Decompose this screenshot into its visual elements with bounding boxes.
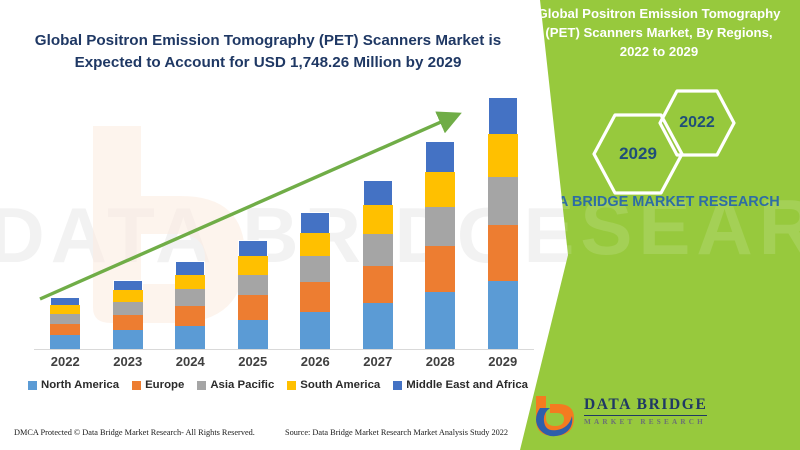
legend-swatch-icon [197, 381, 206, 390]
bar-segment-asia-pacific [113, 302, 143, 315]
legend-item-middle-east-and-africa[interactable]: Middle East and Africa [393, 379, 528, 391]
bar-segment-europe [238, 295, 268, 319]
legend-label: Middle East and Africa [406, 379, 528, 391]
bar-segment-north-america [50, 335, 80, 349]
bar-segment-north-america [175, 326, 205, 349]
bar-segment-middle-east-and-africa [300, 212, 330, 233]
bar-segment-middle-east-and-africa [50, 297, 80, 305]
bar-segment-north-america [363, 303, 393, 349]
legend-item-europe[interactable]: Europe [132, 379, 184, 391]
bar-segment-north-america [113, 330, 143, 349]
x-axis-labels: 20222023202420252026202720282029 [34, 354, 534, 376]
hexagon-2029-label: 2029 [592, 112, 684, 196]
data-bridge-logo-text: DATA BRIDGE MARKET RESEARCH [584, 396, 707, 426]
bar-2027 [363, 180, 393, 349]
bar-segment-europe [363, 266, 393, 303]
bar-segment-south-america [300, 233, 330, 256]
logo-subtitle: MARKET RESEARCH [584, 418, 707, 426]
x-axis-label-2025: 2025 [223, 354, 283, 369]
page-title: Global Positron Emission Tomography (PET… [18, 30, 518, 74]
chart-legend: North AmericaEuropeAsia PacificSouth Ame… [0, 379, 556, 391]
bar-segment-middle-east-and-africa [363, 180, 393, 205]
data-bridge-logo: DATA BRIDGE MARKET RESEARCH [530, 392, 780, 440]
bar-segment-asia-pacific [425, 207, 455, 246]
legend-swatch-icon [287, 381, 296, 390]
bar-segment-middle-east-and-africa [175, 261, 205, 275]
bar-segment-north-america [300, 312, 330, 349]
bar-segment-asia-pacific [175, 289, 205, 306]
bar-segment-south-america [113, 290, 143, 302]
x-axis-label-2027: 2027 [348, 354, 408, 369]
legend-swatch-icon [28, 381, 37, 390]
bar-segment-asia-pacific [50, 314, 80, 324]
green-panel-title: Global Positron Emission Tomography (PET… [534, 4, 784, 61]
chart-plot-area [34, 96, 534, 350]
x-axis-label-2026: 2026 [285, 354, 345, 369]
legend-label: North America [41, 379, 119, 391]
legend-item-north-america[interactable]: North America [28, 379, 119, 391]
bar-segment-north-america [238, 320, 268, 349]
stacked-bar-chart: 20222023202420252026202720282029 [0, 96, 560, 358]
legend-label: South America [300, 379, 380, 391]
x-axis-label-2029: 2029 [473, 354, 533, 369]
x-axis-label-2023: 2023 [98, 354, 158, 369]
bar-segment-south-america [50, 305, 80, 314]
green-panel-brand: DATA BRIDGE MARKET RESEARCH [520, 192, 790, 213]
bar-2024 [175, 261, 205, 349]
infographic-page: DATA BRIDGE Global Positron Emission Tom… [0, 0, 800, 450]
bar-segment-asia-pacific [300, 256, 330, 281]
x-axis-label-2028: 2028 [410, 354, 470, 369]
bar-segment-middle-east-and-africa [113, 280, 143, 291]
bar-segment-south-america [488, 134, 518, 177]
legend-item-asia-pacific[interactable]: Asia Pacific [197, 379, 274, 391]
x-axis-label-2022: 2022 [35, 354, 95, 369]
bar-segment-europe [300, 282, 330, 312]
bar-segment-north-america [488, 281, 518, 349]
bar-segment-asia-pacific [488, 177, 518, 225]
bar-segment-asia-pacific [238, 275, 268, 296]
legend-swatch-icon [393, 381, 402, 390]
bar-2025 [238, 240, 268, 349]
bar-segment-europe [425, 246, 455, 292]
bar-segment-europe [113, 315, 143, 331]
bar-segment-south-america [238, 256, 268, 275]
bar-segment-south-america [425, 172, 455, 207]
footer-copyright: DMCA Protected © Data Bridge Market Rese… [14, 428, 255, 437]
bar-segment-south-america [363, 205, 393, 233]
footer: DMCA Protected © Data Bridge Market Rese… [0, 425, 560, 447]
data-bridge-logo-mark-icon [530, 394, 578, 438]
logo-title: DATA BRIDGE [584, 396, 707, 416]
bar-segment-middle-east-and-africa [488, 97, 518, 134]
legend-item-south-america[interactable]: South America [287, 379, 380, 391]
bar-segment-south-america [175, 275, 205, 290]
x-axis-line [34, 349, 534, 350]
bar-segment-middle-east-and-africa [238, 240, 268, 257]
footer-source: Source: Data Bridge Market Research Mark… [285, 428, 508, 437]
bar-2029 [488, 97, 518, 349]
bar-segment-north-america [425, 292, 455, 349]
bar-segment-europe [50, 324, 80, 336]
legend-label: Asia Pacific [210, 379, 274, 391]
legend-label: Europe [145, 379, 184, 391]
bar-segment-middle-east-and-africa [425, 141, 455, 172]
bar-segment-asia-pacific [363, 234, 393, 266]
bar-segment-europe [175, 306, 205, 326]
bar-2028 [425, 141, 455, 349]
bar-segment-europe [488, 225, 518, 281]
bar-2023 [113, 280, 143, 349]
bar-2026 [300, 212, 330, 349]
legend-swatch-icon [132, 381, 141, 390]
bar-2022 [50, 297, 80, 349]
x-axis-label-2024: 2024 [160, 354, 220, 369]
hexagon-2029: 2029 [592, 112, 684, 196]
